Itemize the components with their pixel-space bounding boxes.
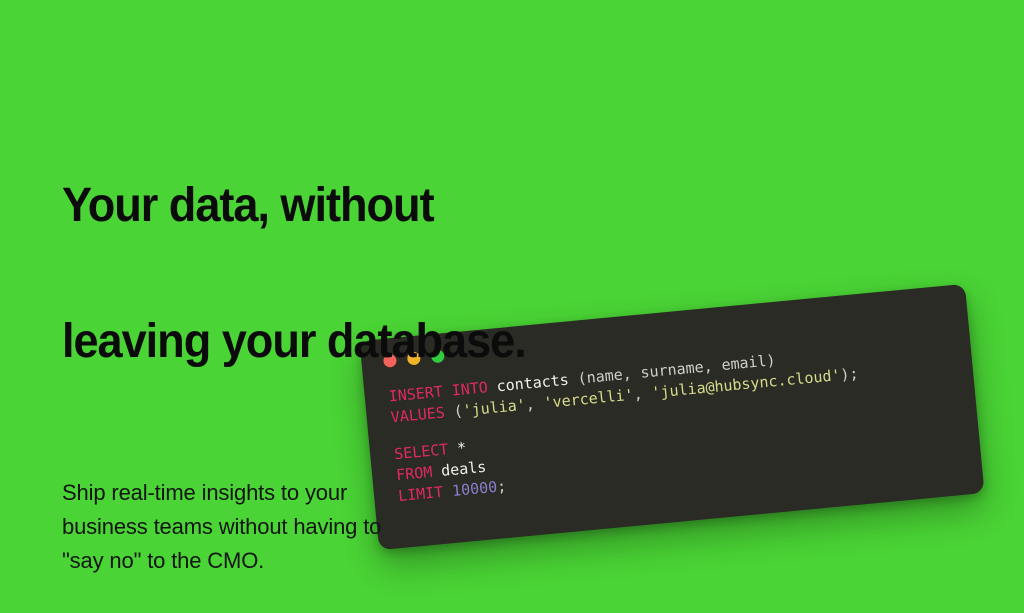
subcopy-line-2: business teams without having to xyxy=(62,510,622,544)
subcopy-line-3: "say no" to the CMO. xyxy=(62,544,622,578)
hero-subcopy: Ship real-time insights to your business… xyxy=(62,444,622,578)
hero-copy-block: Your data, without leaving your database… xyxy=(62,104,622,578)
headline-line-1: Your data, without xyxy=(62,172,588,240)
headline-line-2: leaving your database. xyxy=(62,308,588,376)
subcopy-line-1: Ship real-time insights to your xyxy=(62,476,622,510)
hero-section: Your data, without leaving your database… xyxy=(0,0,1024,613)
page-title: Your data, without leaving your database… xyxy=(62,104,588,444)
sql-paren-close: ); xyxy=(840,364,860,384)
sql-comma-2: , xyxy=(633,384,653,404)
